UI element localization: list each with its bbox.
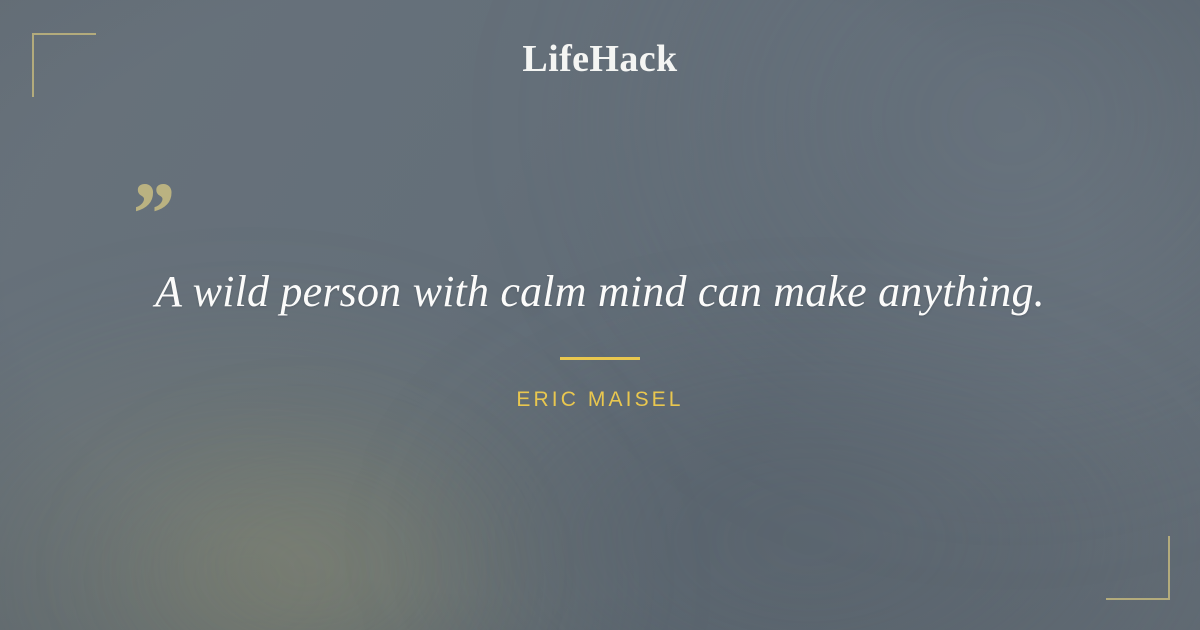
quote-card: LifeHack ” A wild person with calm mind … [0, 0, 1200, 630]
brand-logo: LifeHack [0, 40, 1200, 78]
divider-rule [560, 357, 640, 360]
quotation-mark-icon: ” [128, 170, 173, 260]
corner-bracket-bottom-right-icon [1106, 536, 1170, 600]
quote-author: ERIC MAISEL [0, 389, 1200, 410]
quote-text: A wild person with calm mind can make an… [100, 264, 1100, 319]
